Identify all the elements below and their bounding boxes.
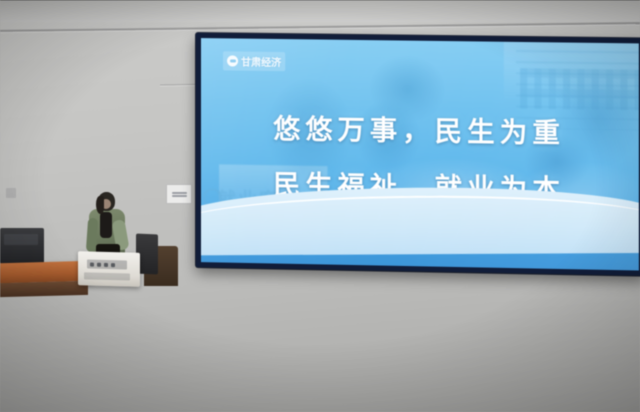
podium-control-panel — [87, 259, 127, 269]
channel-logo: 甘肃经济 — [223, 51, 285, 71]
channel-logo-text: 甘肃经济 — [241, 54, 281, 70]
slide-ribbon-highlight — [201, 194, 639, 258]
podium-keyboard-tray — [84, 272, 130, 280]
speaker-hair — [96, 196, 104, 214]
av-equipment-rack — [0, 228, 44, 264]
wall-vent-icon — [6, 188, 16, 198]
ceiling-band — [0, 0, 640, 22]
projection-screen[interactable]: 就业窗口 甘肃经济 悠悠万事，民生为重 民生福祉，就业为本 — [196, 33, 640, 276]
presentation-slide: 就业窗口 甘肃经济 悠悠万事，民生为重 民生福祉，就业为本 — [201, 38, 639, 270]
equipment-face-panel — [4, 234, 38, 245]
speaker-scarf — [100, 212, 112, 238]
slide-headline-line-1: 悠悠万事，民生为重 — [201, 106, 639, 152]
lectern-podium — [78, 251, 140, 287]
front-desk-shadow — [0, 281, 88, 297]
wall-notice-plaque — [166, 184, 192, 204]
lecture-hall-screenshot: 就业窗口 甘肃经济 悠悠万事，民生为重 民生福祉，就业为本 — [0, 0, 640, 412]
oval-logo-icon — [227, 55, 238, 66]
